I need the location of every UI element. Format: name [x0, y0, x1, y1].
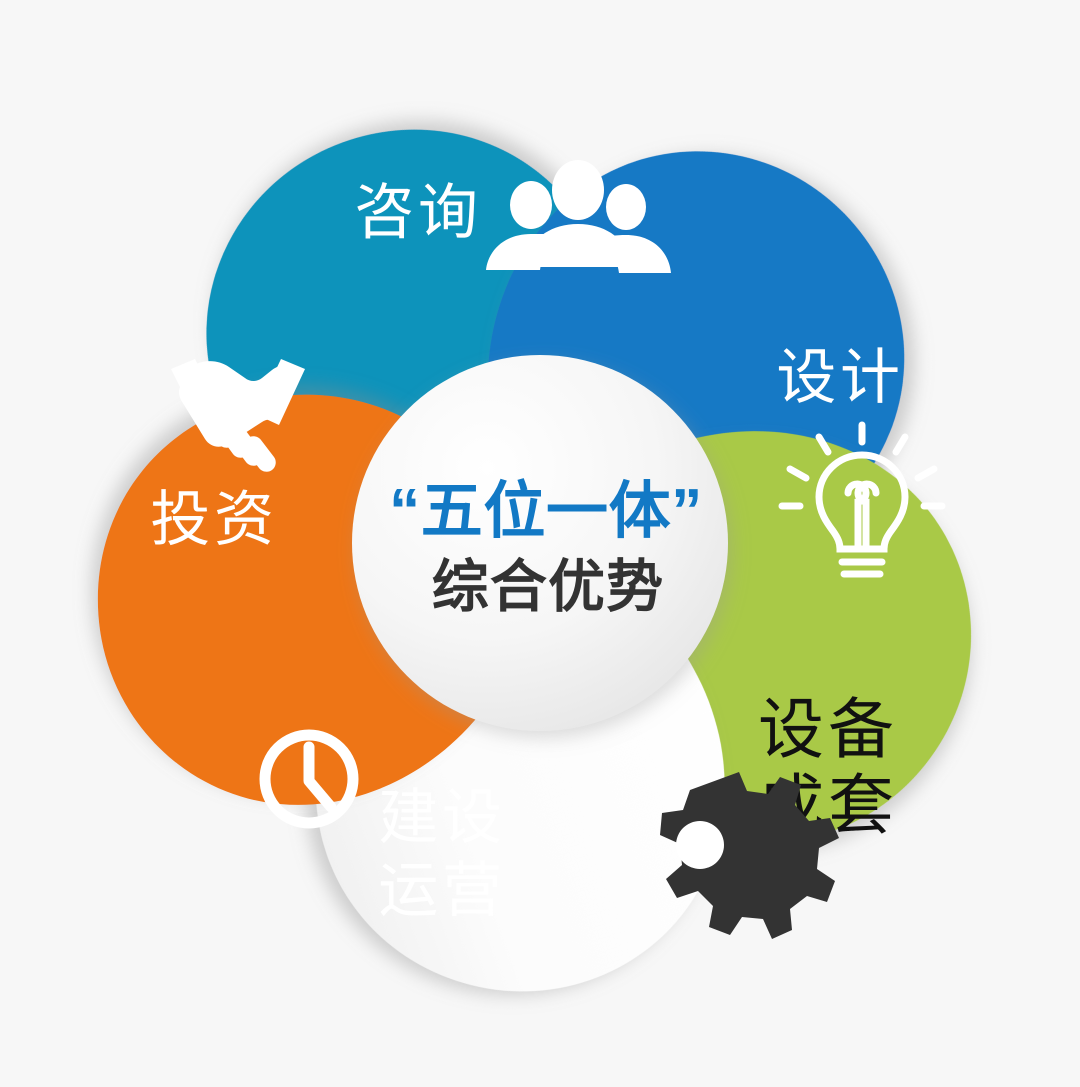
infographic-canvas: “五位一体” 综合优势 咨询 设计 [0, 0, 1080, 1087]
five-in-one-wheel-diagram: “五位一体” 综合优势 咨询 设计 [0, 0, 1080, 1087]
segment-consulting-label: 咨询 [354, 179, 481, 246]
segment-design-label: 设计 [776, 344, 903, 411]
segment-construction-label-line1: 建设 [378, 784, 505, 851]
segment-equipment-label-line1: 设备 [758, 692, 898, 766]
center-title-sub: 综合优势 [432, 555, 665, 619]
segment-construction-label-line2: 运营 [378, 857, 505, 924]
center-title-main: “五位一体” [389, 477, 703, 546]
segment-investment-label: 投资 [150, 486, 277, 553]
